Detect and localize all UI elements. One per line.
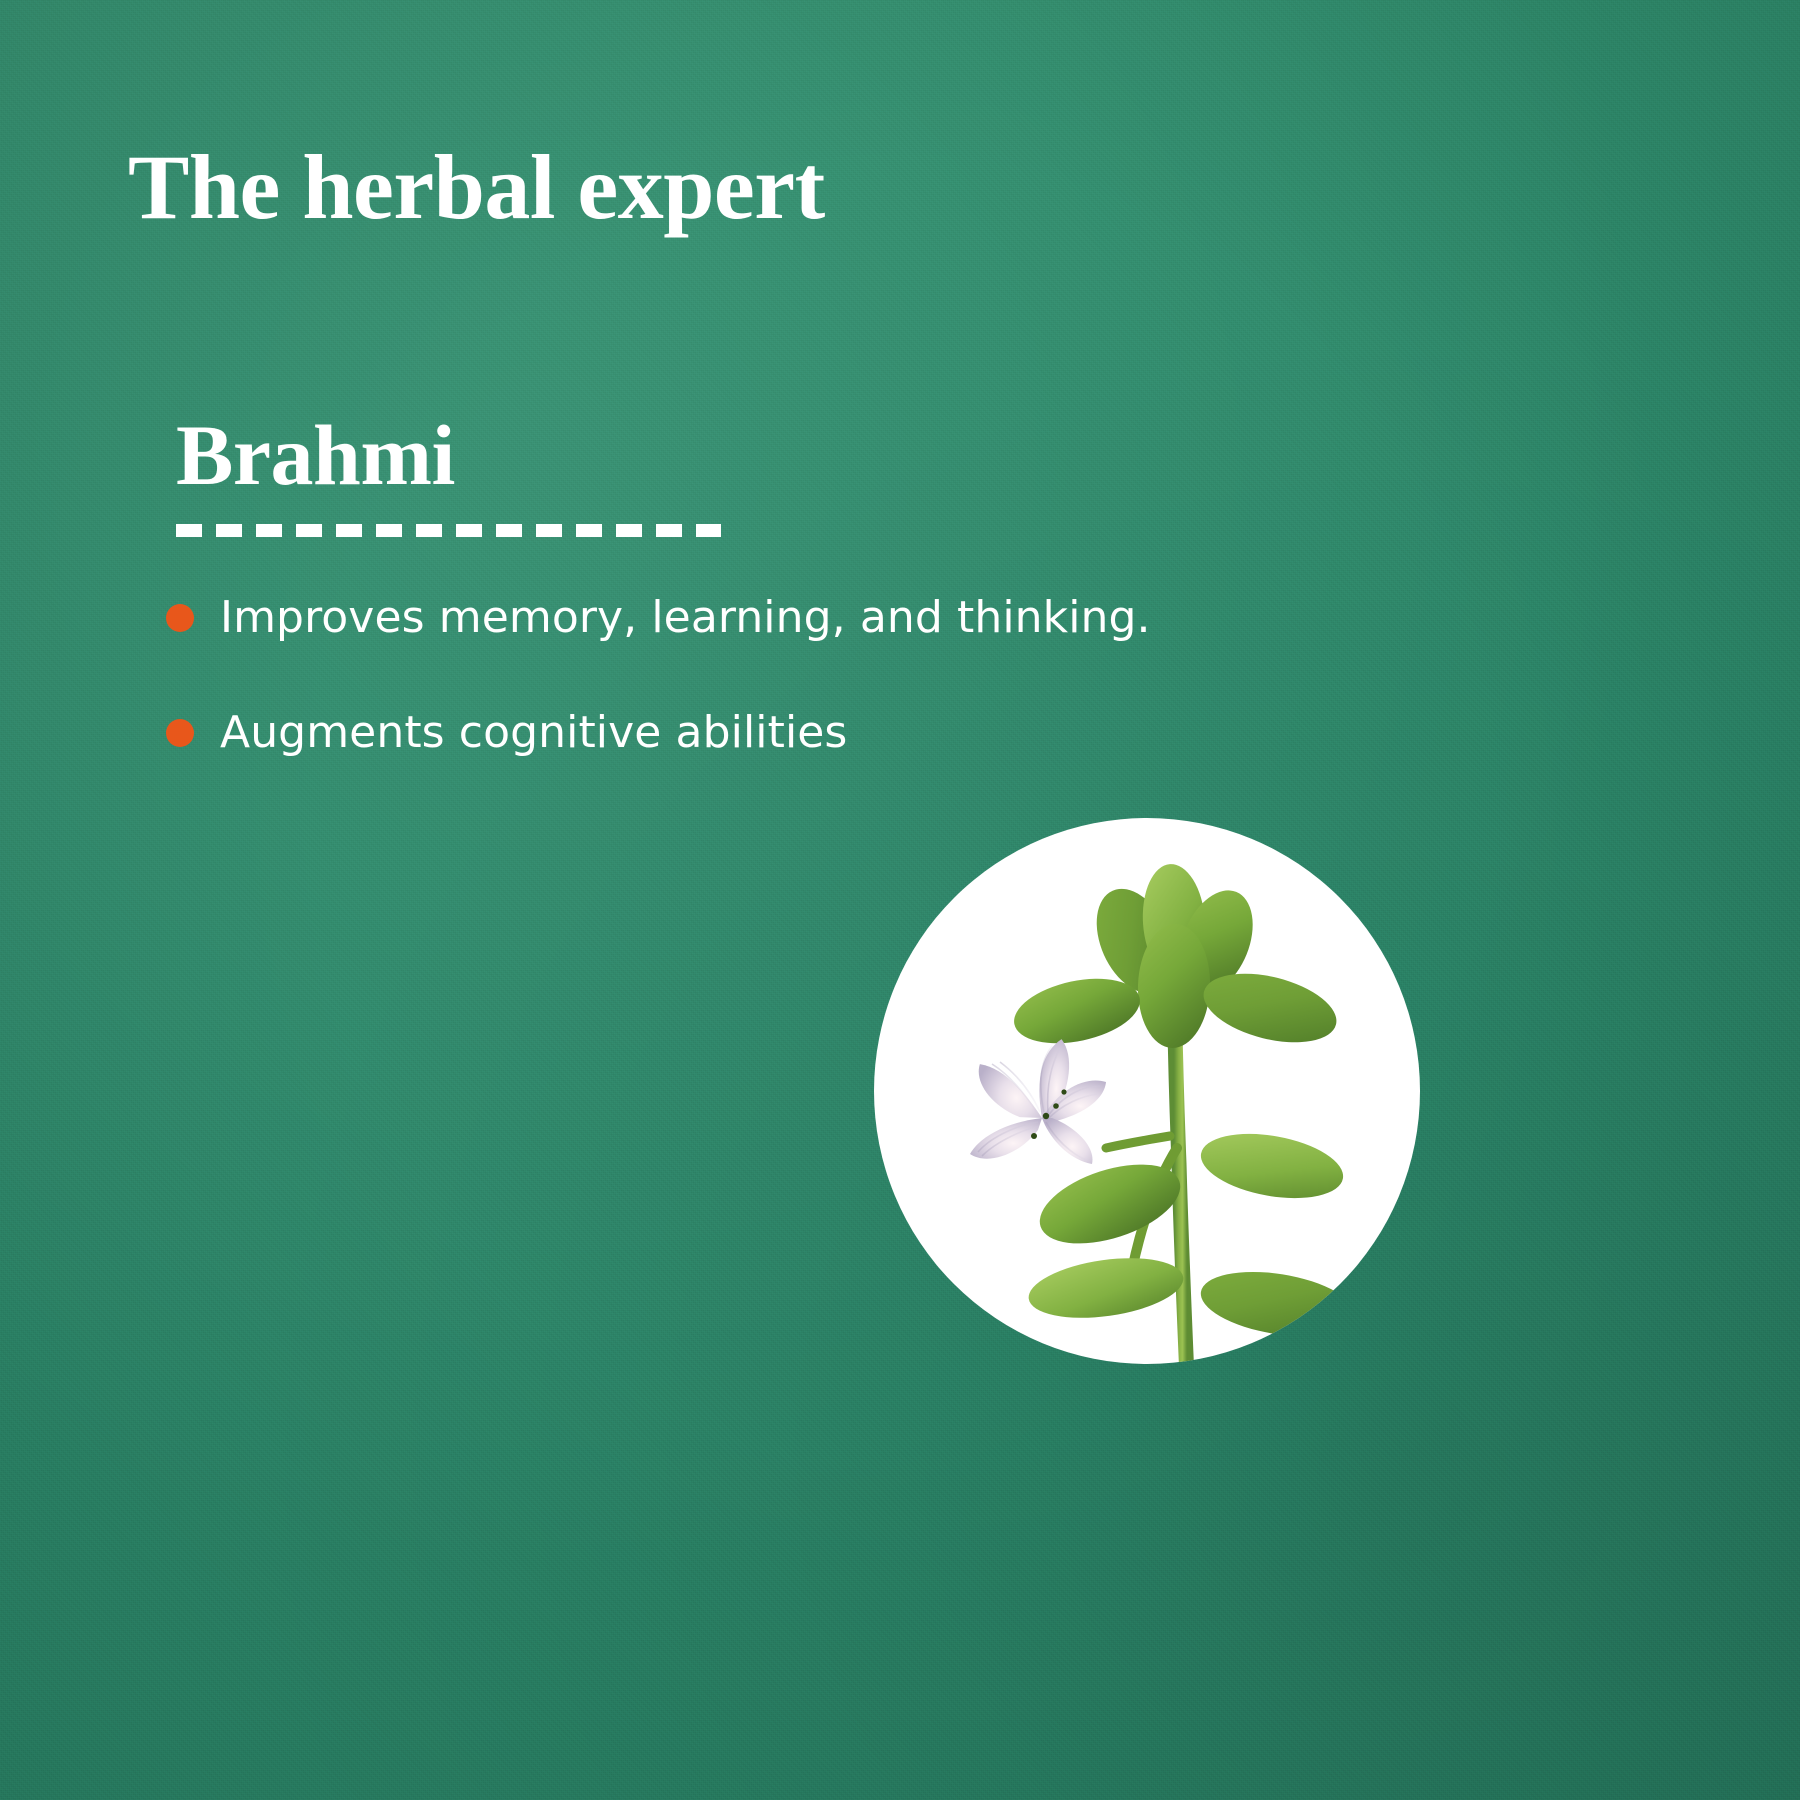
- herbal-expert-poster: The herbal expert Brahmi Improves memory…: [0, 0, 1800, 1800]
- brahmi-plant-image-circle: [874, 818, 1420, 1364]
- brahmi-plant-illustration: [874, 818, 1420, 1364]
- list-item: Improves memory, learning, and thinking.: [166, 592, 1466, 645]
- benefits-list: Improves memory, learning, and thinking.…: [166, 592, 1466, 822]
- orange-dot-bullet-icon: [166, 719, 194, 747]
- dashed-divider: [176, 524, 721, 537]
- list-item: Augments cognitive abilities: [166, 707, 1466, 760]
- orange-dot-bullet-icon: [166, 604, 194, 632]
- benefit-text: Augments cognitive abilities: [220, 707, 847, 760]
- plant-name-heading: Brahmi: [176, 412, 455, 498]
- page-title: The herbal expert: [128, 139, 825, 236]
- benefit-text: Improves memory, learning, and thinking.: [220, 592, 1151, 645]
